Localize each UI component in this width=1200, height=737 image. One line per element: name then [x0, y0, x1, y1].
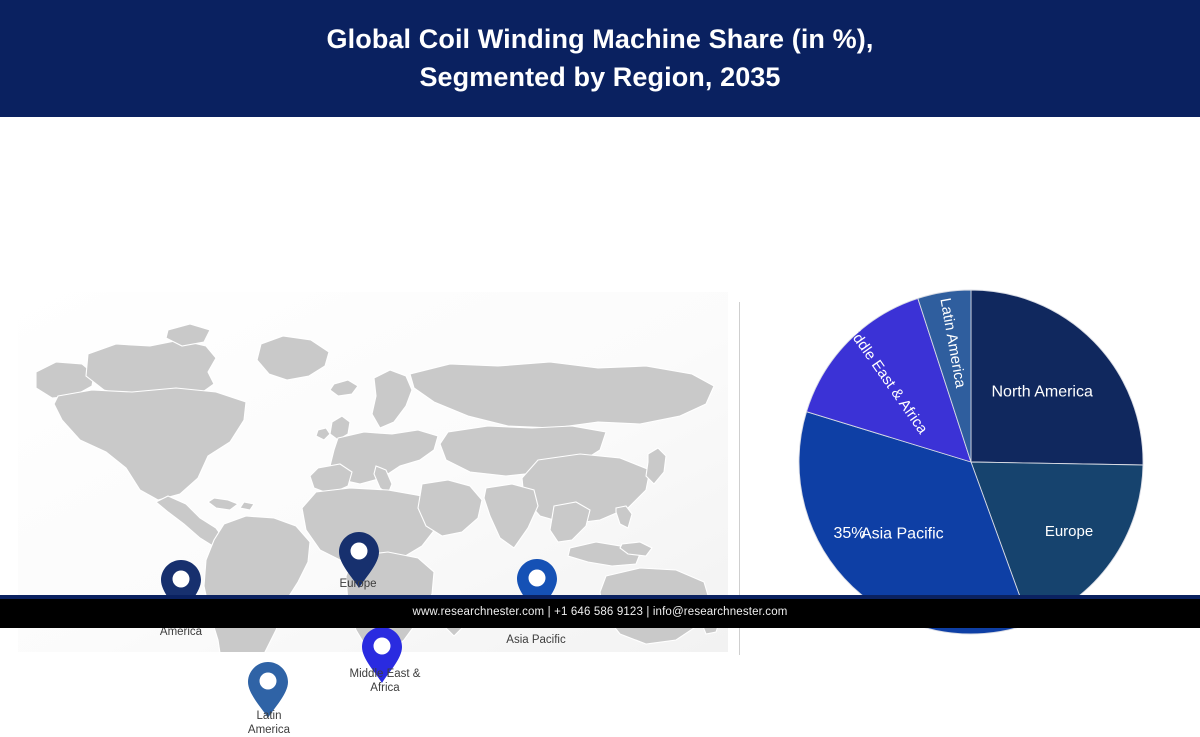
infographic-root: Global Coil Winding Machine Share (in %)…	[0, 0, 1200, 628]
map-pin-label-asia-pacific: Asia Pacific	[486, 634, 586, 648]
map-pin-label-middle-east-africa: Middle East & Africa	[324, 668, 446, 695]
pie-value-asia-pacific: 35%	[833, 525, 865, 542]
map-pin-label-europe: Europe	[318, 578, 398, 592]
pie-slice-north-america[interactable]	[971, 290, 1143, 465]
footer-contact-text: www.researchnester.com | +1 646 586 9123…	[413, 606, 788, 618]
footer-top-strip	[0, 595, 1200, 599]
pie-label-asia-pacific: Asia Pacific	[861, 526, 944, 543]
title-line-1: Global Coil Winding Machine Share (in %)…	[327, 24, 874, 54]
pie-label-north-america: North America	[992, 383, 1093, 400]
title-line-2: Segmented by Region, 2035	[327, 59, 874, 96]
map-pin-label-latin-america: Latin America	[226, 710, 312, 737]
pie-label-europe: Europe	[1045, 523, 1093, 540]
content-area: North AmericaEuropeAsia PacificLatin Ame…	[0, 117, 1200, 595]
page-title: Global Coil Winding Machine Share (in %)…	[287, 21, 914, 96]
footer-bar: www.researchnester.com | +1 646 586 9123…	[0, 595, 1200, 628]
header-banner: Global Coil Winding Machine Share (in %)…	[0, 0, 1200, 117]
